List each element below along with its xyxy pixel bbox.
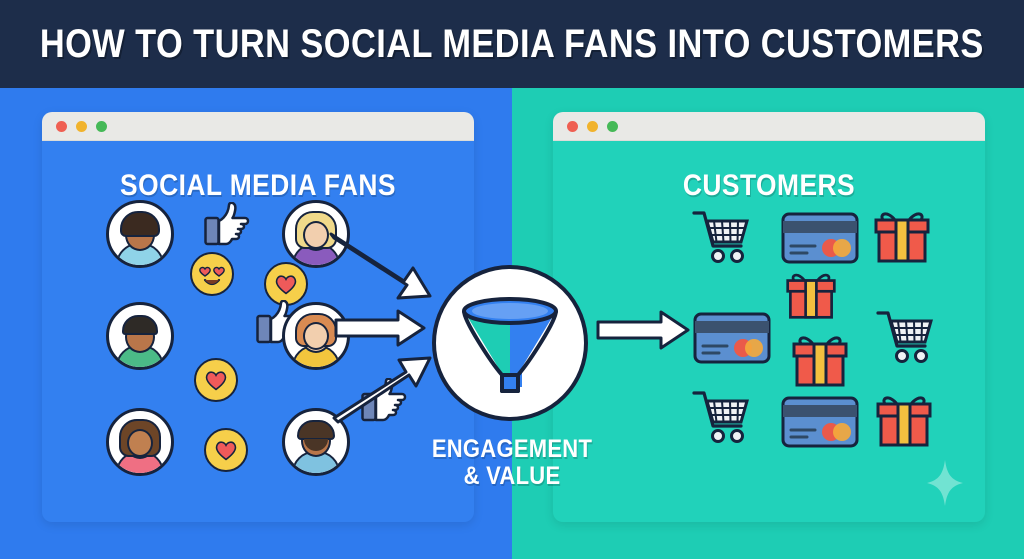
window-titlebar-right [553,112,985,141]
thumbs-up-icon [361,378,407,422]
avatar [282,302,350,370]
minimize-icon[interactable] [587,121,598,132]
heart-eyes-emoji [190,252,234,296]
gift-box-icon [791,330,849,388]
credit-card-icon [693,312,771,364]
minimize-icon[interactable] [76,121,87,132]
avatar [282,408,350,476]
header-bar: HOW TO TURN SOCIAL MEDIA FANS INTO CUSTO… [0,0,1024,88]
shopping-cart-icon [875,308,937,364]
window-titlebar-left [42,112,474,141]
gift-box-icon [875,390,933,448]
heart-emoji [204,428,248,472]
avatar [282,200,350,268]
shopping-cart-icon [691,388,753,444]
customer-items-cluster [553,190,985,490]
gift-box-icon [785,268,837,320]
gift-box-icon [873,206,931,264]
fans-cluster [42,190,474,490]
avatar [106,408,174,476]
avatar [106,302,174,370]
close-icon[interactable] [567,121,578,132]
page-title: HOW TO TURN SOCIAL MEDIA FANS INTO CUSTO… [40,22,984,67]
close-icon[interactable] [56,121,67,132]
maximize-icon[interactable] [607,121,618,132]
shopping-cart-icon [691,208,753,264]
credit-card-icon [781,212,859,264]
heart-emoji [194,358,238,402]
infographic-canvas: HOW TO TURN SOCIAL MEDIA FANS INTO CUSTO… [0,0,1024,559]
avatar [106,200,174,268]
maximize-icon[interactable] [96,121,107,132]
thumbs-up-icon [204,202,250,246]
credit-card-icon [781,396,859,448]
